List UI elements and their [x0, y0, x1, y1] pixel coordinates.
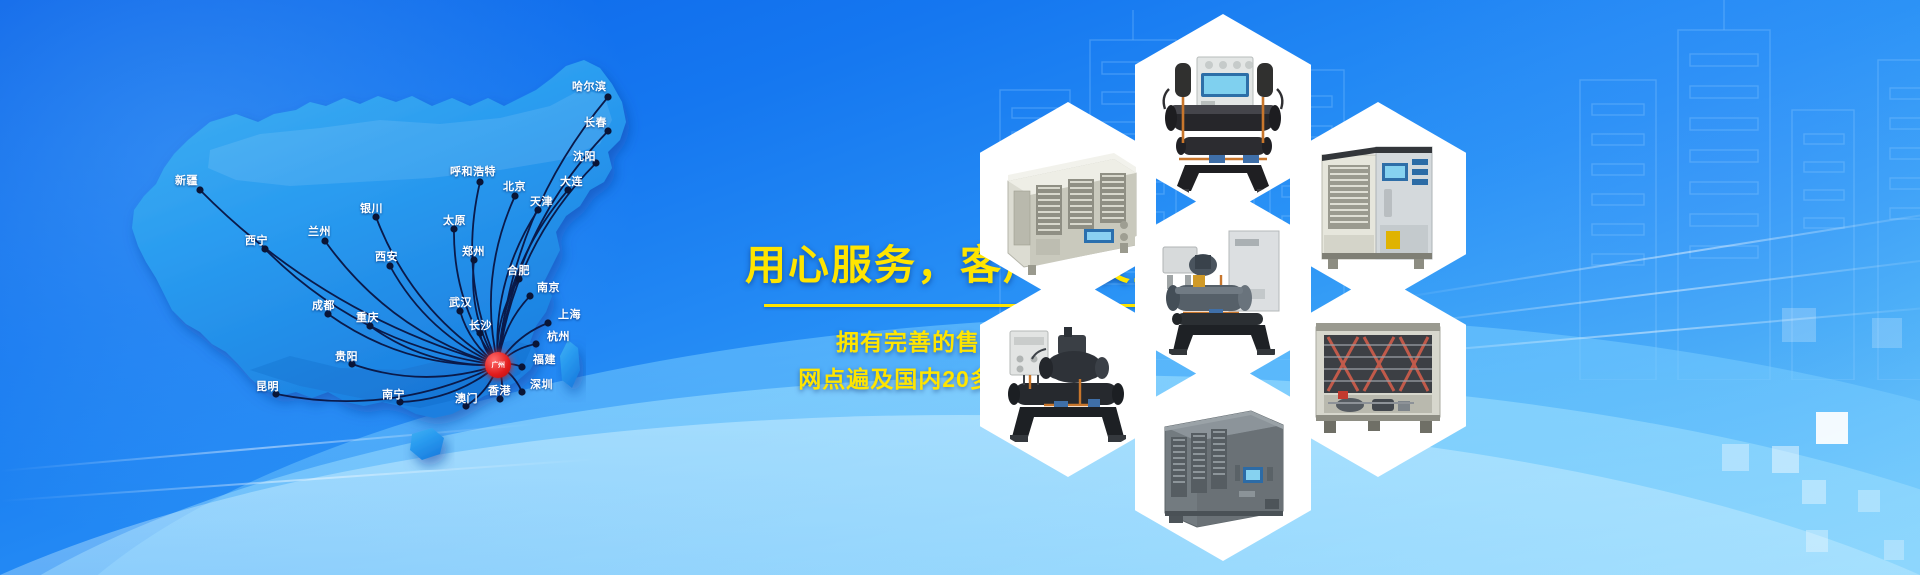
city-label: 昆明	[256, 378, 279, 394]
floating-square	[1884, 540, 1904, 560]
city-label: 长沙	[469, 317, 492, 333]
city-label: 南京	[537, 279, 560, 295]
open-frame-chiller-image	[1294, 279, 1462, 473]
floating-square	[1816, 412, 1848, 444]
city-label: 北京	[503, 178, 526, 194]
city-label: 南宁	[382, 386, 405, 402]
product-hex-screw-compressor-unit[interactable]	[980, 274, 1156, 477]
promo-banner: 哈尔滨长春沈阳大连呼和浩特北京天津新疆银川兰州太原西宁西安郑州合肥南京上海杭州武…	[0, 0, 1920, 575]
city-label: 长春	[584, 114, 607, 130]
water-cooled-condenser-unit-image	[1139, 191, 1307, 385]
floating-square	[1782, 308, 1816, 342]
taiwan-island	[560, 340, 580, 388]
floating-square	[1772, 446, 1799, 473]
hex-inner	[984, 279, 1152, 473]
floating-square	[1806, 530, 1828, 552]
hex-inner	[1139, 191, 1307, 385]
city-dot[interactable]	[476, 178, 483, 185]
hex-inner	[1139, 363, 1307, 557]
city-label: 香港	[488, 382, 511, 398]
industrial-box-chiller-image	[1294, 107, 1462, 301]
city-label: 西宁	[245, 232, 268, 248]
water-cooled-screw-chiller-image	[1139, 19, 1307, 213]
city-label: 成都	[312, 297, 335, 313]
product-hex-open-frame-chiller[interactable]	[1290, 274, 1466, 477]
hex-inner	[984, 107, 1152, 301]
city-label: 太原	[443, 212, 466, 228]
low-temp-cabinet-chiller-image	[1139, 363, 1307, 557]
city-label: 呼和浩特	[450, 163, 496, 179]
floating-square	[1722, 444, 1749, 471]
city-dot[interactable]	[518, 388, 525, 395]
city-label: 重庆	[356, 309, 379, 325]
city-label: 澳门	[455, 390, 478, 406]
product-hexagon-grid	[980, 0, 1700, 575]
screw-compressor-unit-image	[984, 279, 1152, 473]
city-dot[interactable]	[518, 363, 525, 370]
city-label: 银川	[360, 200, 383, 216]
product-hex-low-temp-cabinet-chiller[interactable]	[1135, 358, 1311, 561]
china-map-svg	[60, 10, 760, 565]
city-label: 沈阳	[573, 148, 596, 164]
floating-square	[1858, 490, 1880, 512]
hub-marker-guangzhou[interactable]: 广州	[485, 352, 511, 378]
city-label: 郑州	[462, 243, 485, 259]
city-label: 武汉	[449, 294, 472, 310]
city-label: 杭州	[547, 328, 570, 344]
city-label: 贵阳	[335, 348, 358, 364]
city-dot[interactable]	[544, 319, 551, 326]
city-label: 深圳	[530, 376, 553, 392]
air-cooled-box-chiller-image	[984, 107, 1152, 301]
city-label: 大连	[560, 173, 583, 189]
hex-inner	[1294, 279, 1462, 473]
city-dot[interactable]	[526, 292, 533, 299]
city-label: 兰州	[308, 223, 331, 239]
city-label: 新疆	[175, 172, 198, 188]
floating-square	[1802, 480, 1826, 504]
china-distribution-map: 哈尔滨长春沈阳大连呼和浩特北京天津新疆银川兰州太原西宁西安郑州合肥南京上海杭州武…	[60, 10, 760, 565]
hainan-island	[410, 428, 444, 460]
city-dot[interactable]	[532, 340, 539, 347]
city-label: 合肥	[507, 262, 530, 278]
hub-label: 广州	[492, 362, 505, 369]
city-label: 天津	[530, 193, 553, 209]
hex-inner	[1139, 19, 1307, 213]
city-label: 上海	[558, 306, 581, 322]
city-label: 福建	[533, 351, 556, 367]
hex-inner	[1294, 107, 1462, 301]
city-label: 西安	[375, 248, 398, 264]
city-dot[interactable]	[604, 93, 611, 100]
city-label: 哈尔滨	[572, 78, 607, 94]
floating-square	[1872, 318, 1902, 348]
